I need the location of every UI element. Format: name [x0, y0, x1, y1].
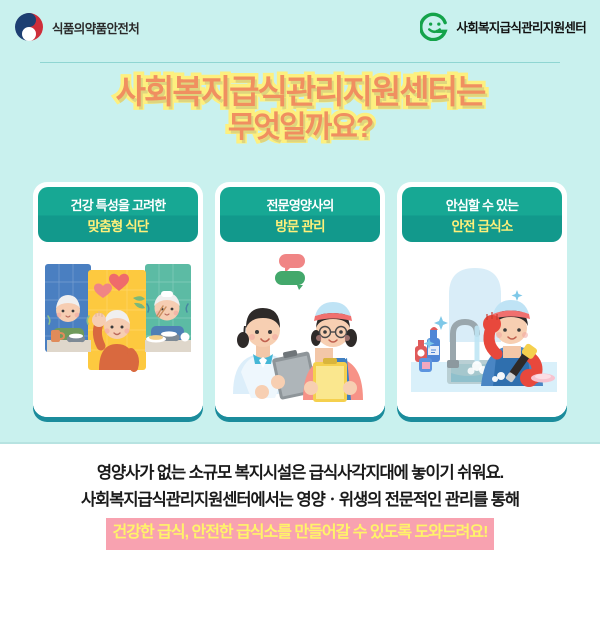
bottom-line-2: 사회복지급식관리지원센터에서는 영양ㆍ위생의 전문적인 관리를 통해 [0, 487, 600, 514]
ministry-logo-group: 식품의약품안전처 [14, 12, 139, 42]
page-title-line-2: 무엇일까요? [0, 111, 600, 145]
card-title-line-2: 맞춤형 식단 [87, 215, 148, 235]
bottom-line-1: 영양사가 없는 소규모 복지시설은 급식사각지대에 놓이기 쉬워요. [0, 460, 600, 487]
smiley-face-icon [420, 12, 449, 41]
card-title-line-1: 안심할 수 있는 [446, 195, 519, 214]
page-title-line-1: 사회복지급식관리지원센터는 [0, 73, 600, 111]
bottom-message-block: 영양사가 없는 소규모 복지시설은 급식사각지대에 놓이기 쉬워요. 사회복지급… [0, 444, 600, 569]
bottom-line-3-highlight: 건강한 급식, 안전한 급식소를 만들어갈 수 있도록 도와드려요! [106, 518, 495, 549]
divider-top [40, 62, 560, 63]
title-block: 사회복지급식관리지원센터는 무엇일까요? [0, 62, 600, 145]
poster-root: 식품의약품안전처 사회복지급식관리지원센터 사회복지급식관리지원센터는 무엇일까… [0, 0, 600, 569]
center-name: 사회복지급식관리지원센터 [456, 17, 586, 36]
header: 식품의약품안전처 사회복지급식관리지원센터 [0, 0, 600, 54]
three-elderly-people-eating-meals-icon [33, 242, 203, 417]
card-header: 안심할 수 있는 안전 급식소 [402, 187, 562, 242]
feature-card-safe-kitchen[interactable]: 안심할 수 있는 안전 급식소 [397, 182, 567, 417]
feature-card-nutritionist-visit[interactable]: 전문영양사의 방문 관리 [215, 182, 385, 417]
card-title-line-2: 방문 관리 [275, 215, 324, 235]
feature-card-list: 건강 특성을 고려한 맞춤형 식단 [33, 182, 567, 417]
card-title-line-1: 건강 특성을 고려한 [71, 195, 166, 214]
ministry-name: 식품의약품안전처 [52, 18, 139, 37]
card-title-line-2: 안전 급식소 [451, 215, 512, 235]
taegeuk-icon [14, 12, 44, 42]
worker-cleaning-sink-icon [397, 242, 567, 417]
nutritionist-visiting-cook-icon [215, 242, 385, 417]
center-logo-group: 사회복지급식관리지원센터 [420, 12, 586, 41]
card-title-line-1: 전문영양사의 [267, 195, 334, 214]
card-header: 건강 특성을 고려한 맞춤형 식단 [38, 187, 198, 242]
feature-card-customized-menu[interactable]: 건강 특성을 고려한 맞춤형 식단 [33, 182, 203, 417]
card-header: 전문영양사의 방문 관리 [220, 187, 380, 242]
